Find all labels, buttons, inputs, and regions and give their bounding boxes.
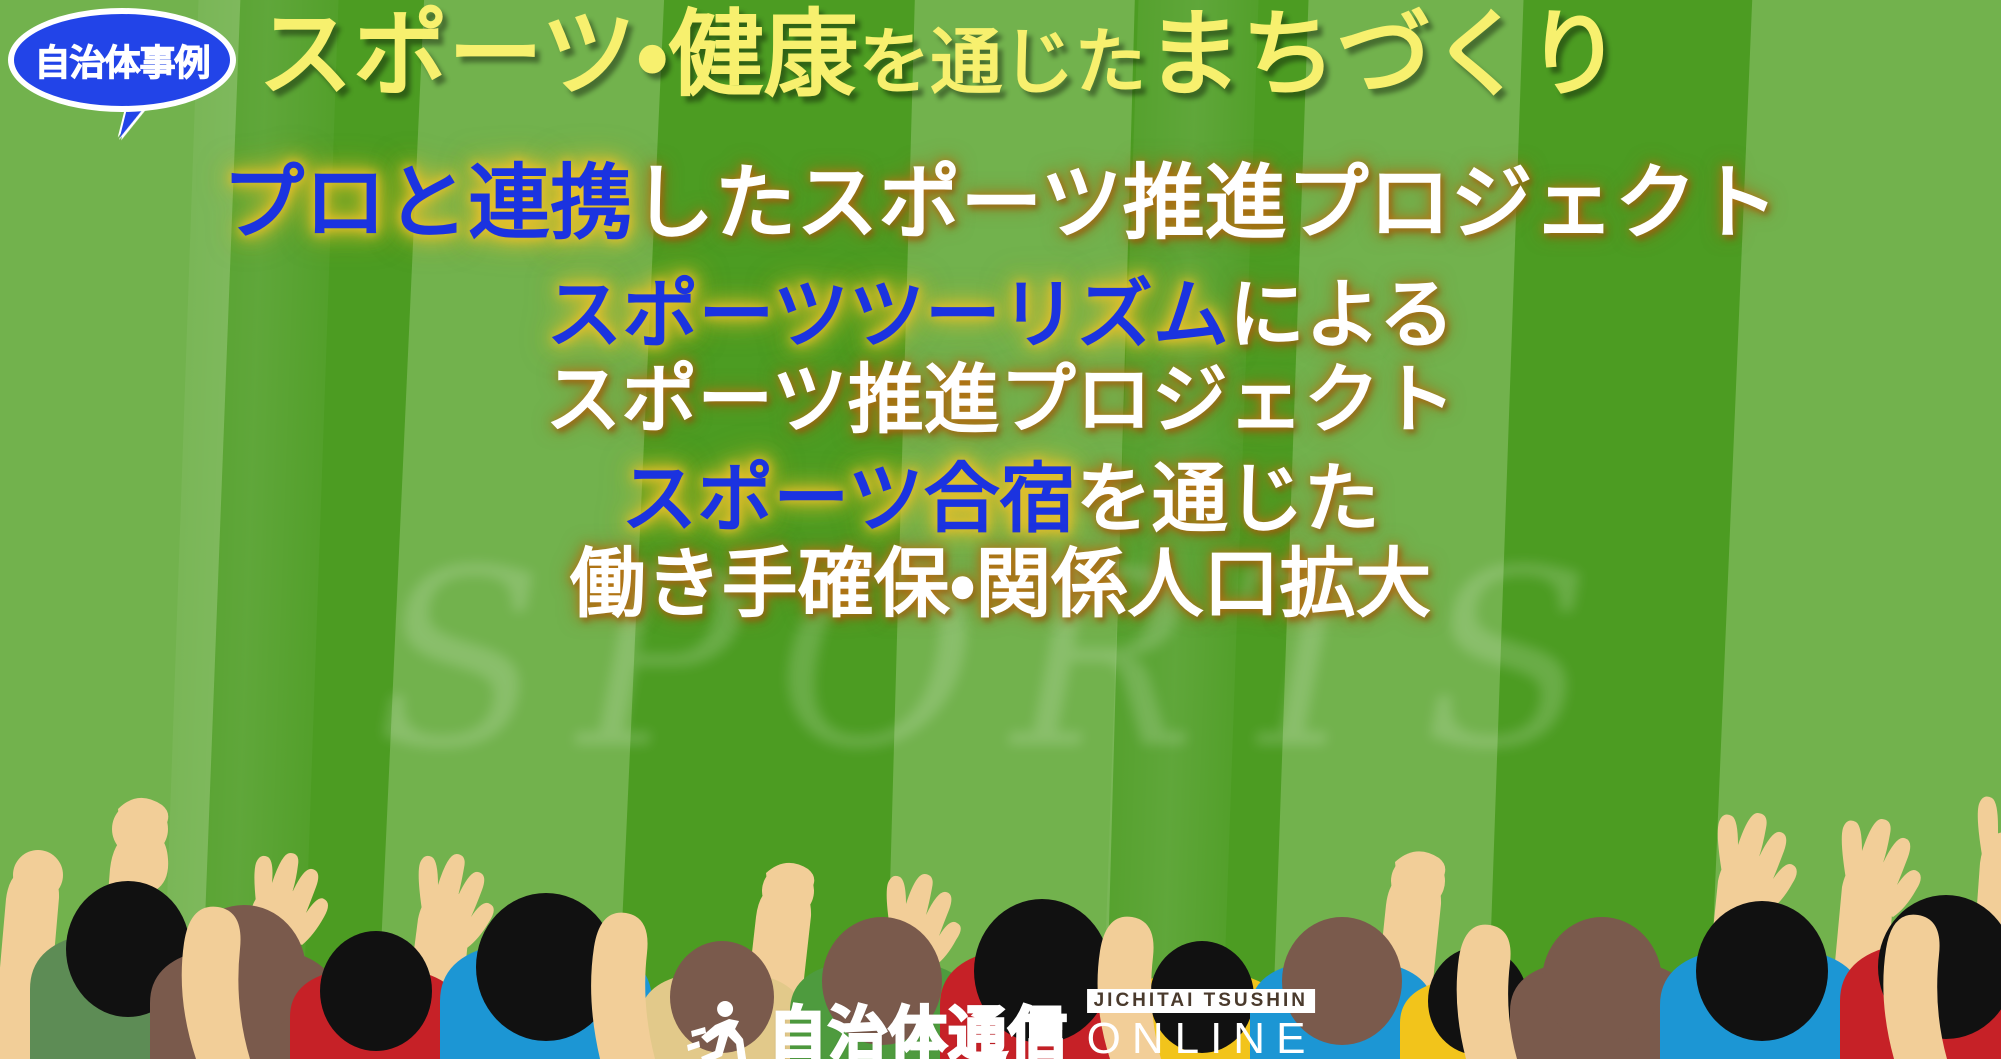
copy-plain: 働き手確保・関係人口拡大	[570, 539, 1432, 628]
category-badge: 自治体事例	[8, 8, 248, 148]
copy-plain: を通じた	[1076, 454, 1380, 543]
copy-plain: したスポーツ推進プロジェクト	[632, 156, 1778, 251]
speech-bubble-icon: 自治体事例	[8, 8, 236, 112]
copy-block-3: スポーツ合宿を通じた 働き手確保・関係人口拡大	[0, 456, 2001, 626]
copy-block-2: スポーツツーリズムによる スポーツ推進プロジェクト	[0, 272, 2001, 442]
title-segment-2: を通じた	[858, 20, 1146, 104]
title-segment-3: まちづくり	[1146, 0, 1621, 110]
logo-jp-name: 自治体通信	[769, 1005, 1069, 1059]
page-title: スポーツ・健康を通じたまちづくり	[258, 8, 1978, 103]
crowd-person	[1660, 901, 1864, 1059]
copy-plain: による	[1229, 270, 1455, 359]
copy-line: 働き手確保・関係人口拡大	[0, 541, 2001, 626]
copy-line: スポーツ推進プロジェクト	[0, 357, 2001, 442]
logo-online: ONLINE	[1087, 1017, 1317, 1059]
logo-romaji: JICHITAI TSUSHIN	[1087, 989, 1315, 1013]
copy-block-1: プロと連携したスポーツ推進プロジェクト	[0, 158, 2001, 250]
copy-highlight: スポーツ合宿	[621, 454, 1075, 543]
poster-canvas: SPORTS 自治体事例 スポーツ・健康を通じたまちづくり プロと連携したスポー…	[0, 0, 2001, 1059]
running-person-icon	[685, 997, 751, 1059]
copy-highlight: プロと連携	[222, 156, 632, 251]
copy-highlight: スポーツツーリズム	[546, 270, 1228, 359]
copy-line: スポーツ合宿を通じた	[0, 456, 2001, 541]
badge-label: 自治体事例	[34, 34, 209, 86]
copy-line: プロと連携したスポーツ推進プロジェクト	[0, 158, 2001, 250]
copy-line: スポーツツーリズムによる	[0, 272, 2001, 357]
site-logo[interactable]: 自治体通信 JICHITAI TSUSHIN ONLINE	[685, 989, 1317, 1059]
copy-plain: スポーツ推進プロジェクト	[545, 355, 1455, 444]
title-segment-1: スポーツ・健康	[258, 0, 858, 110]
